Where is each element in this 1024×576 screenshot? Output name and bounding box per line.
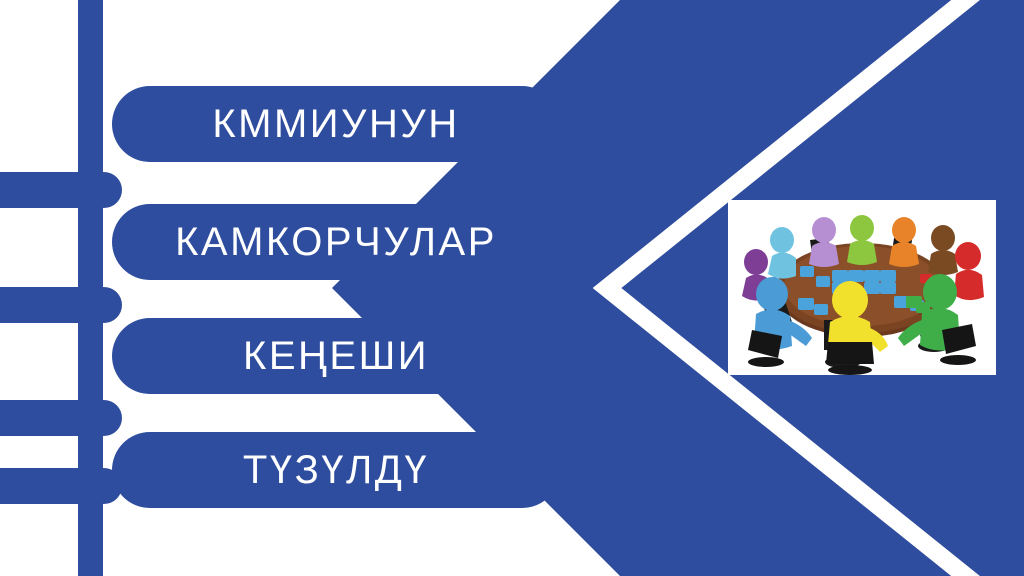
title-pill-1: КММИУНУН <box>112 86 560 162</box>
title-line-3: КЕҢЕШИ <box>243 336 429 376</box>
left-horizontal-bar-3 <box>0 400 78 436</box>
left-horizontal-bar-4 <box>0 468 78 504</box>
title-pill-4: ТҮЗҮЛДҮ <box>112 432 560 508</box>
pill-connector-knob-1 <box>86 172 122 208</box>
left-horizontal-bar-1 <box>0 172 78 208</box>
slide-canvas: КММИУНУН КАМКОРЧУЛАР КЕҢЕШИ ТҮЗҮЛДҮ <box>0 0 1024 576</box>
title-line-1: КММИУНУН <box>212 104 459 144</box>
title-line-4: ТҮЗҮЛДҮ <box>243 450 429 490</box>
title-pill-2: КАМКОРЧУЛАР <box>112 204 560 280</box>
round-table-meeting-photo <box>728 200 996 375</box>
title-line-2: КАМКОРЧУЛАР <box>175 222 497 262</box>
pill-connector-knob-3 <box>86 400 122 436</box>
pill-connector-knob-2 <box>86 287 122 323</box>
left-horizontal-bar-2 <box>0 287 78 323</box>
title-pill-3: КЕҢЕШИ <box>112 318 560 394</box>
